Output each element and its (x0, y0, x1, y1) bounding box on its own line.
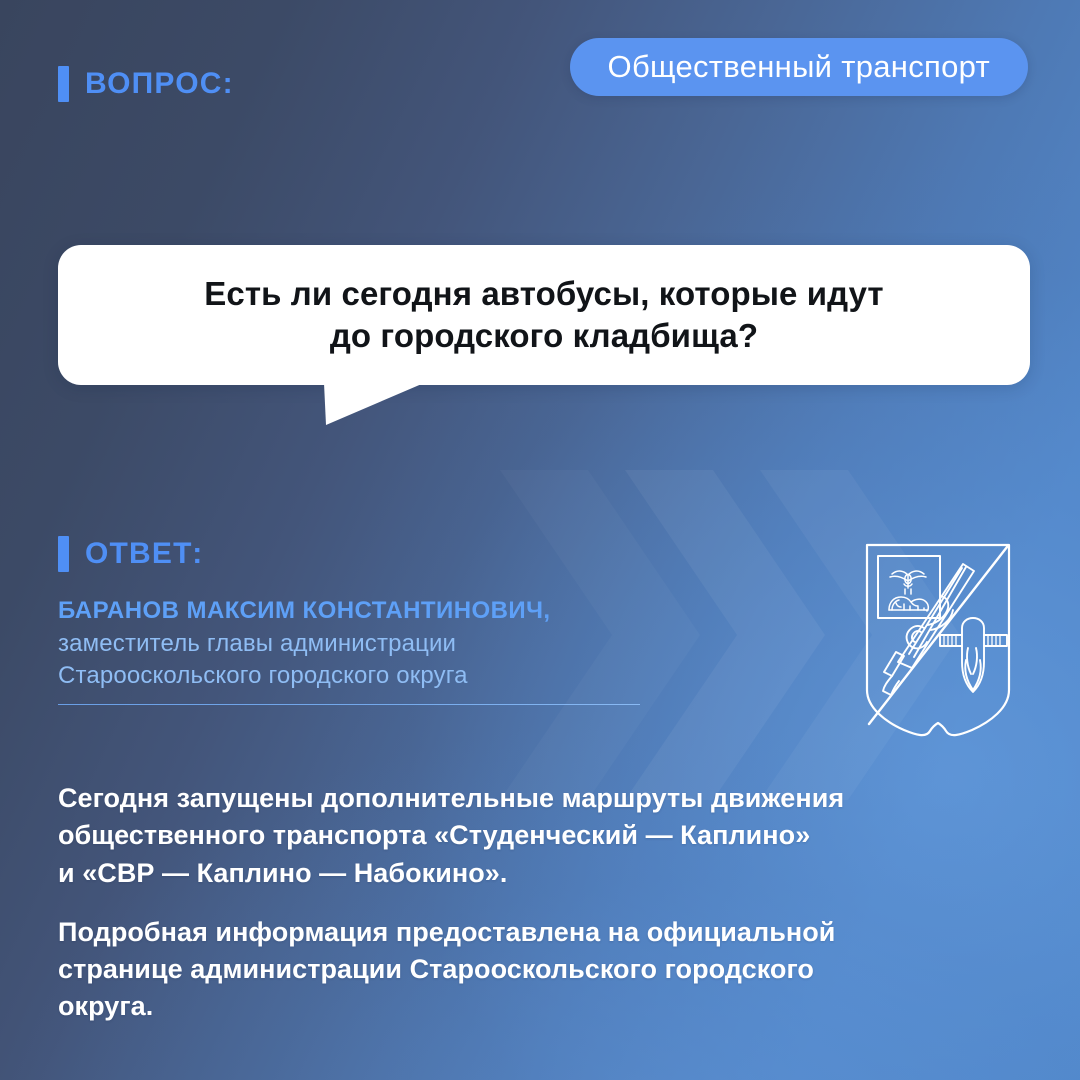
topic-badge[interactable]: Общественный транспорт (570, 38, 1028, 96)
body-text: Сегодня запущены дополнительные маршруты… (58, 780, 998, 1026)
answer-divider (58, 704, 640, 705)
accent-bar-icon (58, 66, 69, 102)
coat-of-arms-icon (862, 540, 1014, 745)
answer-label: ОТВЕТ: (85, 539, 203, 569)
speaker-role-line-1: заместитель главы администрации (58, 628, 658, 660)
speaker-name: БАРАНОВ МАКСИМ КОНСТАНТИНОВИЧ, (58, 596, 658, 625)
body-paragraph-1: Сегодня запущены дополнительные маршруты… (58, 780, 998, 892)
question-bubble-tail-icon (324, 383, 424, 425)
question-label-group: ВОПРОС: (58, 66, 234, 102)
body-paragraph-2: Подробная информация предоставлена на оф… (58, 914, 998, 1026)
info-card: ВОПРОС: Общественный транспорт Есть ли с… (0, 0, 1080, 1080)
question-bubble: Есть ли сегодня автобусы, которые идут д… (58, 245, 1030, 385)
topic-badge-label: Общественный транспорт (608, 49, 990, 85)
question-text: Есть ли сегодня автобусы, которые идут д… (176, 273, 911, 357)
accent-bar-icon (58, 536, 69, 572)
speaker-block: БАРАНОВ МАКСИМ КОНСТАНТИНОВИЧ, заместите… (58, 596, 658, 692)
speaker-role-line-2: Старооскольского городского округа (58, 660, 658, 692)
header: ВОПРОС: Общественный транспорт (0, 0, 1080, 145)
question-label: ВОПРОС: (85, 69, 234, 99)
answer-label-group: ОТВЕТ: (58, 536, 203, 572)
